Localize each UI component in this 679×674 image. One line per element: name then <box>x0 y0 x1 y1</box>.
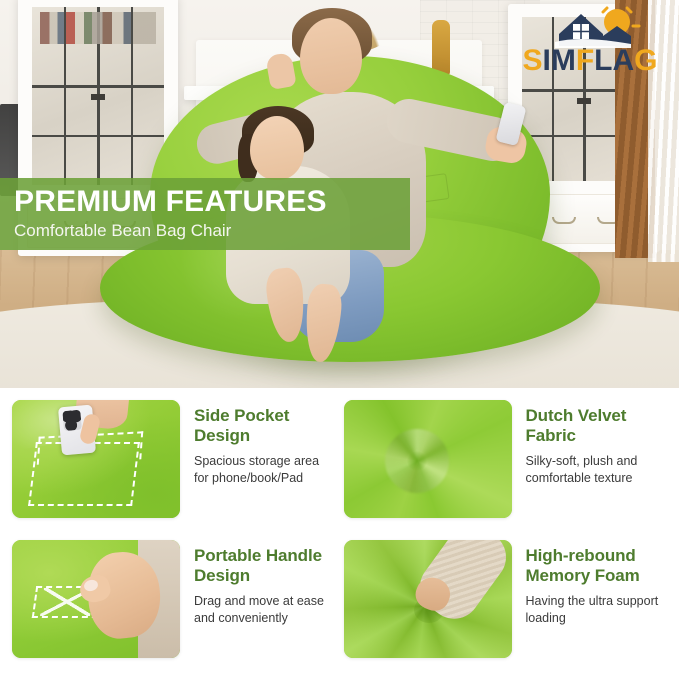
feature-text: Portable Handle Design Drag and move at … <box>180 540 336 668</box>
banner-subtitle: Comfortable Bean Bag Chair <box>14 222 410 241</box>
features-row-1: Side Pocket Design Spacious storage area… <box>8 394 671 534</box>
child-head <box>250 116 304 180</box>
feature-title: Dutch Velvet Fabric <box>526 406 668 445</box>
cabinet-knobs <box>91 94 105 100</box>
feature-text: Dutch Velvet Fabric Silky-soft, plush an… <box>512 400 668 528</box>
simflag-logo: SIMFLAG <box>511 6 669 74</box>
product-feature-page: SIMFLAG PREMIUM FEATURES Comfortable Bea… <box>0 0 679 669</box>
mullion-horizontal <box>32 135 164 137</box>
cabinet-knobs <box>577 98 591 104</box>
banner-title: PREMIUM FEATURES <box>14 187 410 218</box>
premium-features-banner: PREMIUM FEATURES Comfortable Bean Bag Ch… <box>0 178 410 250</box>
velvet-fabric-thumbnail <box>344 400 512 518</box>
feature-description: Drag and move at ease and conveniently <box>194 593 336 626</box>
feature-description: Having the ultra support loading <box>526 593 668 626</box>
feature-card-dutch-velvet: Dutch Velvet Fabric Silky-soft, plush an… <box>340 394 672 534</box>
feature-title: High-rebound Memory Foam <box>526 546 668 585</box>
feature-card-portable-handle: Portable Handle Design Drag and move at … <box>8 534 340 674</box>
gold-vase-decor <box>432 20 450 76</box>
memory-foam-thumbnail <box>344 540 512 658</box>
house-sun-icon: SIMFLAG <box>511 6 669 74</box>
feature-card-memory-foam: High-rebound Memory Foam Having the ultr… <box>340 534 672 674</box>
portable-handle-thumbnail <box>12 540 180 658</box>
features-row-2: Portable Handle Design Drag and move at … <box>8 534 671 674</box>
logo-wordmark: SIMFLAG <box>522 44 657 74</box>
side-pocket-thumbnail <box>12 400 180 518</box>
feature-description: Spacious storage area for phone/book/Pad <box>194 453 336 486</box>
woman-head <box>300 18 362 94</box>
feature-title: Side Pocket Design <box>194 406 336 445</box>
phone-camera-icon <box>62 410 82 431</box>
drawer-handle <box>552 217 576 224</box>
feature-text: Side Pocket Design Spacious storage area… <box>180 400 336 528</box>
features-grid: Side Pocket Design Spacious storage area… <box>0 388 679 669</box>
mullion-vertical <box>131 7 133 185</box>
mullion-vertical <box>64 7 66 185</box>
feature-description: Silky-soft, plush and comfortable textur… <box>526 453 668 486</box>
cabinet-books <box>40 12 156 44</box>
hero-image: SIMFLAG PREMIUM FEATURES Comfortable Bea… <box>0 0 679 388</box>
feature-title: Portable Handle Design <box>194 546 336 585</box>
feature-text: High-rebound Memory Foam Having the ultr… <box>512 540 668 668</box>
feature-card-side-pocket: Side Pocket Design Spacious storage area… <box>8 394 340 534</box>
